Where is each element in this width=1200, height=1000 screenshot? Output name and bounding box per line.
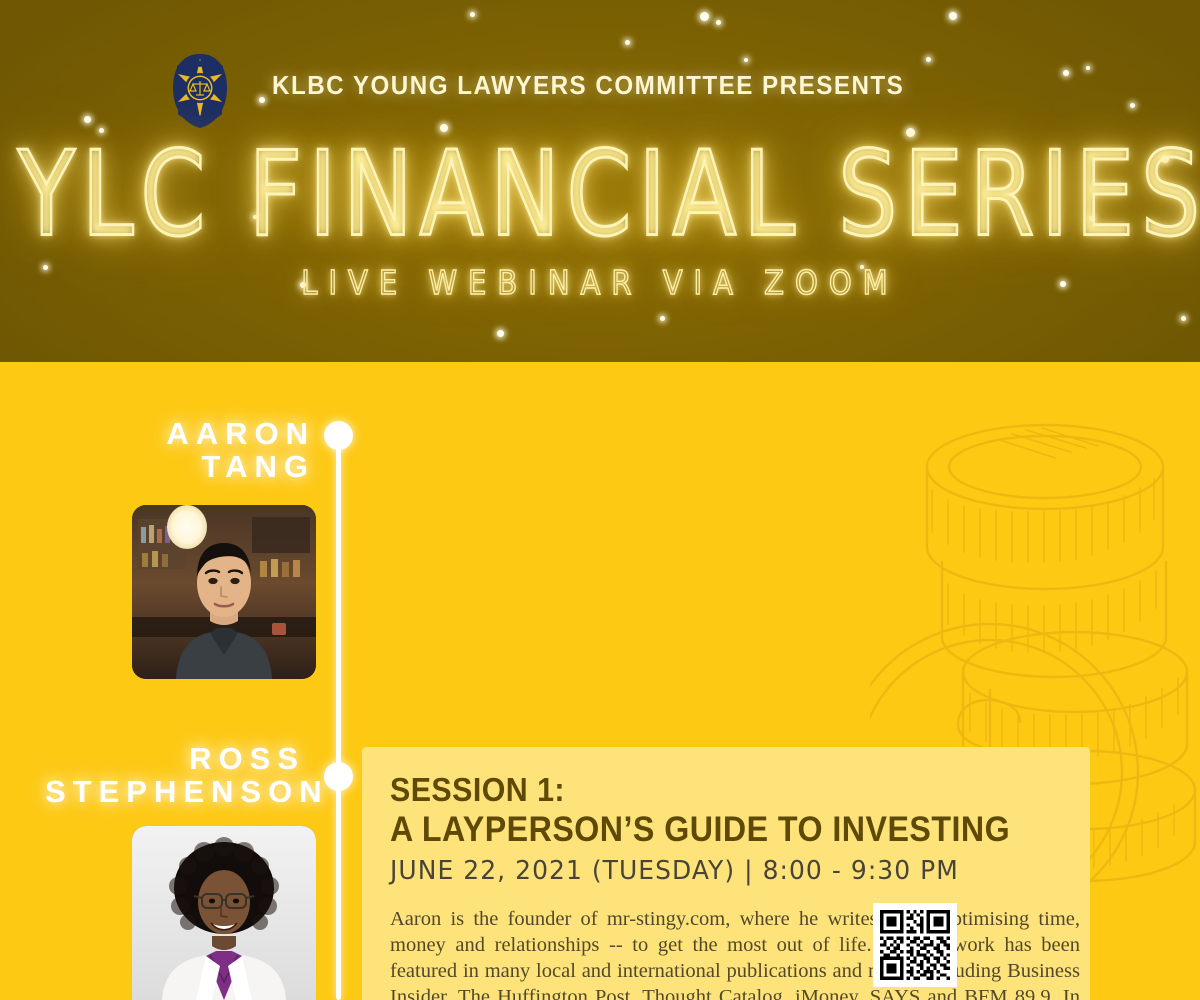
star-particle [1063,70,1069,76]
speaker-1-last-name: TANG [201,449,315,484]
star-particle [700,12,709,21]
poster-title: YLC FINANCIAL SERIES [18,126,1182,263]
session-1-label: SESSION 1: [390,773,1010,807]
session-1-date: JUNE 22, 2021 (TUESDAY) | 8:00 - 9:30 PM [390,856,1037,886]
star-particle [660,316,665,321]
speaker-1-name: AARON TANG [55,417,315,484]
star-particle [949,12,957,20]
speaker-1-first-name: AARON [166,416,315,451]
star-particle [926,57,931,62]
session-1-title: A LAYPERSON’S GUIDE TO INVESTING [390,812,1010,848]
star-particle [1086,66,1090,70]
speaker-2-last-name: STEPHENSON [45,774,329,809]
ross-stephenson-photo [132,826,316,1000]
poster-subtitle: LIVE WEBINAR VIA ZOOM [0,264,1200,302]
star-particle [1130,103,1135,108]
star-particle [744,58,748,62]
star-particle [625,40,630,45]
aaron-tang-photo [132,505,316,679]
star-particle [470,12,475,17]
star-particle [259,97,265,103]
presents-line: KLBC YOUNG LAWYERS COMMITTEE PRESENTS [272,70,904,101]
poster-header: KLBC YOUNG LAWYERS COMMITTEE PRESENTS YL… [0,0,1200,362]
session-1-bio: Aaron is the founder of mr-stingy.com, w… [390,906,1080,1000]
star-particle [497,330,504,337]
speaker-2-name: ROSS STEPHENSON [45,742,305,809]
qr-code[interactable] [873,903,957,987]
klbc-logo-icon [170,48,230,134]
star-particle [716,20,721,25]
star-particle [1181,316,1186,321]
timeline-line [336,428,341,1000]
speaker-2-first-name: ROSS [189,741,305,776]
timeline-dot-session-1 [324,421,353,450]
session-1-card[interactable]: SESSION 1: A LAYPERSON’S GUIDE TO INVEST… [362,747,1090,1000]
star-particle [84,116,91,123]
